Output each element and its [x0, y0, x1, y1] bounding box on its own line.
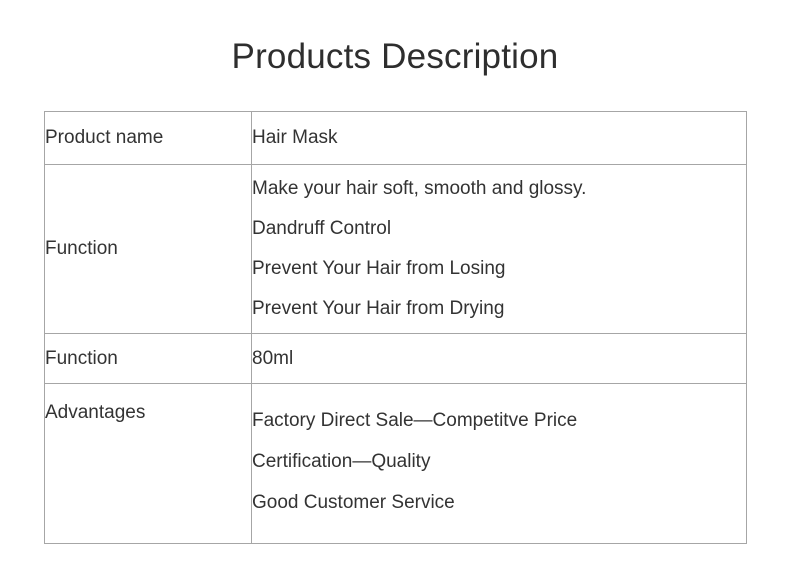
row-value-cell: Make your hair soft, smooth and glossy. … — [252, 165, 747, 334]
table-row: Product name Hair Mask — [45, 112, 747, 165]
row-value-lines: Make your hair soft, smooth and glossy. … — [252, 169, 746, 329]
row-value-cell: Hair Mask — [252, 112, 747, 165]
row-label-cell: Function — [45, 165, 252, 334]
row-label-text: Product name — [45, 125, 251, 151]
row-value-line: Factory Direct Sale—Competitve Price — [252, 400, 746, 441]
row-label-cell: Advantages — [45, 384, 252, 544]
table-row: Function 80ml — [45, 334, 747, 384]
row-value-line: Dandruff Control — [252, 209, 746, 249]
row-label-cell: Function — [45, 334, 252, 384]
table-body: Product name Hair Mask Function Make you… — [45, 112, 747, 544]
row-value-line: Certification—Quality — [252, 441, 746, 482]
row-value-cell: Factory Direct Sale—Competitve Price Cer… — [252, 384, 747, 544]
row-value-text: 80ml — [252, 346, 746, 372]
row-value-text: Hair Mask — [252, 125, 746, 151]
row-label-text: Function — [45, 346, 251, 372]
page-title: Products Description — [0, 36, 790, 78]
row-label-text: Function — [45, 236, 251, 262]
row-value-lines: Factory Direct Sale—Competitve Price Cer… — [252, 400, 746, 523]
table-row: Function Make your hair soft, smooth and… — [45, 165, 747, 334]
row-value-line: Make your hair soft, smooth and glossy. — [252, 169, 746, 209]
product-specification-table: Product name Hair Mask Function Make you… — [44, 111, 747, 544]
row-value-line: Good Customer Service — [252, 482, 746, 523]
product-description-page: Products Description Product name Hair M… — [0, 0, 790, 570]
row-label-cell: Product name — [45, 112, 252, 165]
row-value-cell: 80ml — [252, 334, 747, 384]
row-value-line: Prevent Your Hair from Drying — [252, 289, 746, 329]
row-label-text: Advantages — [45, 400, 251, 426]
row-value-line: Prevent Your Hair from Losing — [252, 249, 746, 289]
table-row: Advantages Factory Direct Sale—Competitv… — [45, 384, 747, 544]
